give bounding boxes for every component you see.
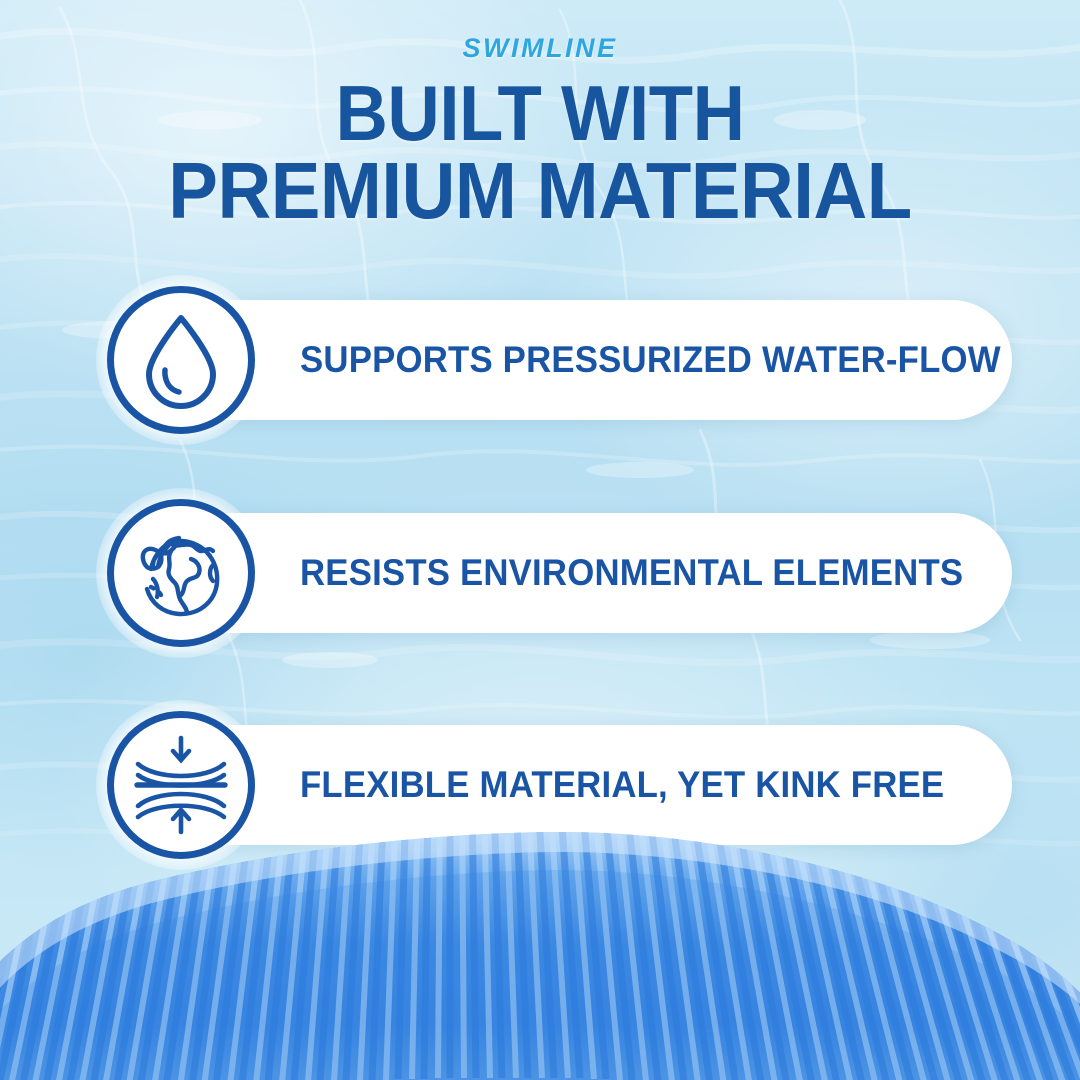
feature-icon-circle: [107, 499, 255, 647]
hose-ribs: [0, 798, 1080, 1080]
eco-globe-icon: [129, 521, 233, 625]
page-title: BUILT WITH PREMIUM MATERIAL: [38, 76, 1042, 229]
feature-icon-circle: [107, 286, 255, 434]
feature-row: SUPPORTS PRESSURIZED WATER-FLOW: [96, 275, 1012, 445]
feature-label: RESISTS ENVIRONMENTAL ELEMENTS: [300, 513, 937, 633]
feature-label: SUPPORTS PRESSURIZED WATER-FLOW: [300, 300, 937, 420]
infographic-canvas: SWIMLINE BUILT WITH PREMIUM MATERIAL SUP…: [0, 0, 1080, 1080]
brand-logo: SWIMLINE: [0, 33, 1080, 64]
headline-line-2: PREMIUM MATERIAL: [38, 152, 1042, 230]
water-drop-icon: [129, 308, 233, 412]
feature-row: RESISTS ENVIRONMENTAL ELEMENTS: [96, 488, 1012, 658]
headline-line-1: BUILT WITH: [38, 76, 1042, 152]
product-hose: [0, 770, 1080, 1080]
